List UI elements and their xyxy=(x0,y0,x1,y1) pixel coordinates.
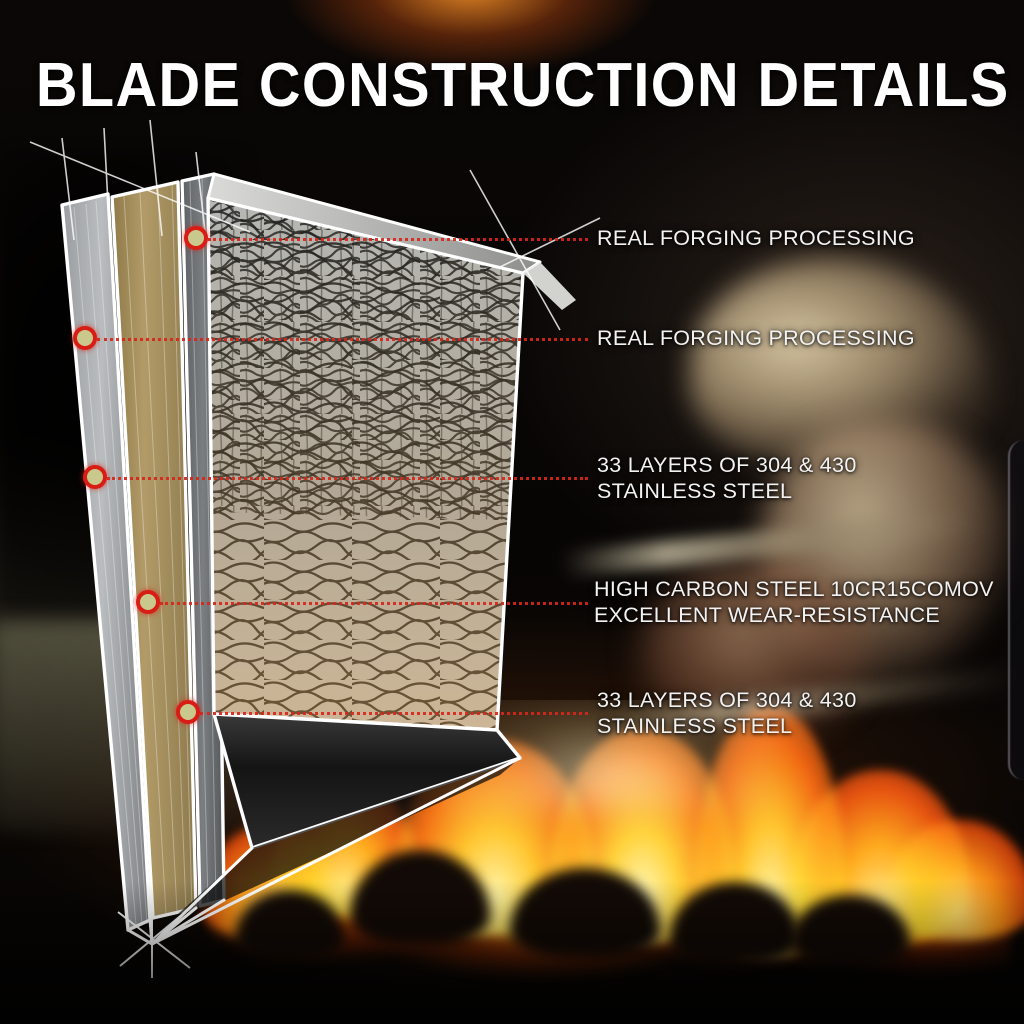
callout-leader-line xyxy=(200,712,588,715)
infographic-canvas: BLADE CONSTRUCTION DETAILS REAL FORGING … xyxy=(0,0,1024,1024)
damascus-face xyxy=(200,190,540,750)
callout-leader-line xyxy=(107,477,588,480)
callout-label: REAL FORGING PROCESSING xyxy=(597,325,915,351)
callout-marker-dot[interactable] xyxy=(184,226,208,250)
callout-label: HIGH CARBON STEEL 10CR15COMOV EXCELLENT … xyxy=(594,576,994,628)
blade-layer-stack xyxy=(62,174,224,930)
blade-spine-highlight xyxy=(523,262,576,310)
callout-leader-line xyxy=(208,238,588,241)
callout-marker-dot[interactable] xyxy=(136,590,160,614)
callout-label: 33 LAYERS OF 304 & 430 STAINLESS STEEL xyxy=(597,452,857,504)
callout-label: 33 LAYERS OF 304 & 430 STAINLESS STEEL xyxy=(597,687,857,739)
callout-leader-line xyxy=(97,338,588,341)
page-title: BLADE CONSTRUCTION DETAILS xyxy=(36,55,988,117)
callout-marker-dot[interactable] xyxy=(83,465,107,489)
callout-leader-line xyxy=(160,602,588,605)
callout-marker-dot[interactable] xyxy=(73,326,97,350)
blade-cross-section-diagram xyxy=(0,0,1024,1024)
callout-label: REAL FORGING PROCESSING xyxy=(597,225,915,251)
callout-marker-dot[interactable] xyxy=(176,700,200,724)
